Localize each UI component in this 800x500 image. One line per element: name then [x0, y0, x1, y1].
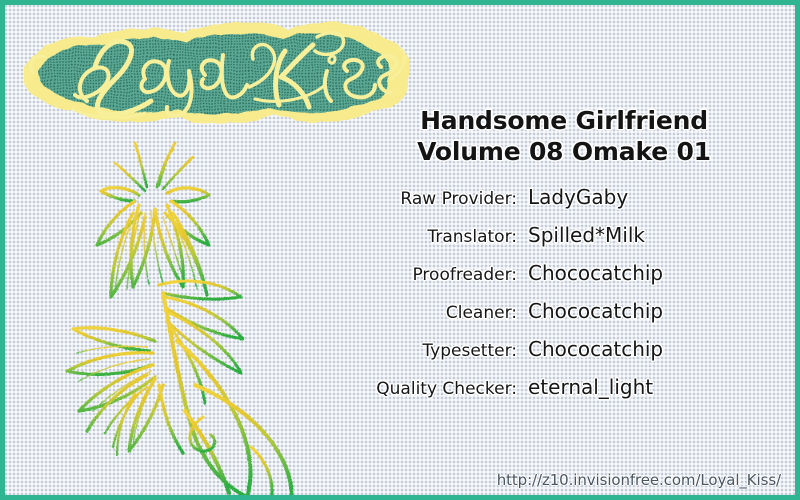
- credit-label-cleaner: Cleaner:: [360, 303, 528, 323]
- credit-label-typesetter: Typesetter:: [360, 341, 528, 361]
- credit-label-quality-checker: Quality Checker:: [360, 379, 528, 399]
- credits-page: Handsome Girlfriend Volume 08 Omake 01 R…: [0, 0, 800, 500]
- credit-row-translator: Translator: Spilled*Milk: [360, 223, 790, 261]
- credit-value-cleaner: Chococatchip: [528, 299, 790, 323]
- lily-flower-illustration: [35, 135, 335, 500]
- credit-label-proofreader: Proofreader:: [360, 265, 528, 285]
- credits-panel: Handsome Girlfriend Volume 08 Omake 01 R…: [360, 105, 790, 413]
- credit-label-translator: Translator:: [360, 227, 528, 247]
- title-block: Handsome Girlfriend Volume 08 Omake 01: [360, 105, 790, 167]
- credit-value-typesetter: Chococatchip: [528, 337, 790, 361]
- credit-value-proofreader: Chococatchip: [528, 261, 790, 285]
- page-title-line-1: Handsome Girlfriend: [360, 105, 768, 136]
- credit-rows: Raw Provider: LadyGaby Translator: Spill…: [360, 185, 790, 413]
- group-website-url[interactable]: http://z10.invisionfree.com/Loyal_Kiss/: [497, 471, 781, 489]
- logo-teal-blob: [39, 33, 390, 114]
- credit-value-translator: Spilled*Milk: [528, 223, 790, 247]
- upper-flower-stamens: [115, 141, 193, 191]
- credit-row-quality-checker: Quality Checker: eternal_light: [360, 375, 790, 413]
- credit-row-raw-provider: Raw Provider: LadyGaby: [360, 185, 790, 223]
- credit-value-quality-checker: eternal_light: [528, 375, 790, 399]
- loyal-kiss-logo: [17, 13, 417, 128]
- credit-row-cleaner: Cleaner: Chococatchip: [360, 299, 790, 337]
- credit-row-typesetter: Typesetter: Chococatchip: [360, 337, 790, 375]
- credit-label-raw-provider: Raw Provider:: [360, 189, 528, 209]
- credit-row-proofreader: Proofreader: Chococatchip: [360, 261, 790, 299]
- credit-value-raw-provider: LadyGaby: [528, 185, 790, 209]
- page-title-line-2: Volume 08 Omake 01: [360, 136, 768, 167]
